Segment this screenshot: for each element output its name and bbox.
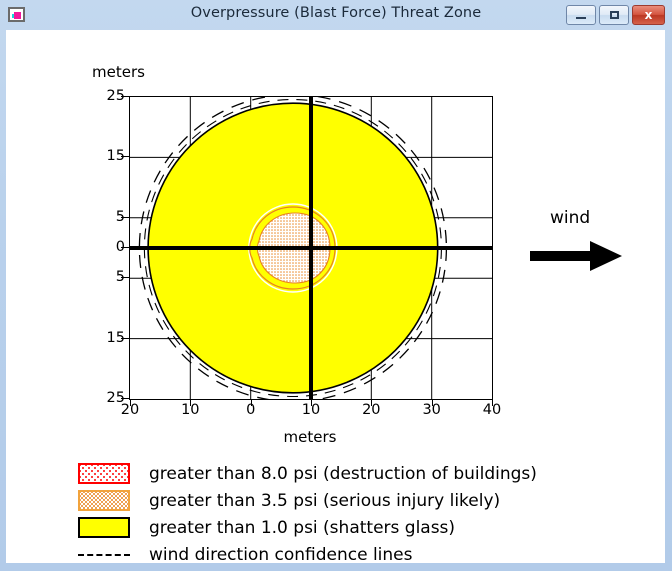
y-tick-label: 25 xyxy=(89,88,125,104)
x-axis-title: meters xyxy=(129,428,491,446)
y-tick-label: 15 xyxy=(89,330,125,346)
y-tick-mark xyxy=(121,156,129,157)
yellow-solid-swatch xyxy=(78,517,130,538)
y-tick-label: 5 xyxy=(89,209,125,225)
y-axis-title: meters xyxy=(92,63,145,81)
legend-item-3-5psi: greater than 3.5 psi (serious injury lik… xyxy=(78,487,638,514)
x-tick-mark xyxy=(492,399,493,406)
y-tick-label: 0 xyxy=(89,239,125,255)
x-tick-mark xyxy=(251,399,252,406)
title-bar[interactable]: Overpressure (Blast Force) Threat Zone x xyxy=(0,0,672,30)
red-dotted-swatch xyxy=(78,463,130,484)
application-window: Overpressure (Blast Force) Threat Zone x… xyxy=(0,0,672,571)
y-tick-mark xyxy=(121,398,129,399)
y-tick-label: 15 xyxy=(89,148,125,164)
x-tick-mark xyxy=(190,399,191,406)
x-tick-mark xyxy=(371,399,372,406)
y-tick-mark xyxy=(121,247,129,248)
legend-label: greater than 3.5 psi (serious injury lik… xyxy=(149,491,500,511)
y-axis-ticks: 25 15 5 0 5 15 25 xyxy=(85,96,125,398)
x-tick-mark xyxy=(311,399,312,406)
legend: greater than 8.0 psi (destruction of bui… xyxy=(78,460,638,568)
orange-dotted-swatch xyxy=(78,490,130,511)
arrow-right-icon xyxy=(528,238,628,274)
y-tick-mark xyxy=(121,96,129,97)
dashed-line-swatch xyxy=(78,544,130,565)
minimize-icon xyxy=(567,6,595,24)
plot-area xyxy=(129,96,493,400)
y-tick-mark xyxy=(121,338,129,339)
window-client-area: meters xyxy=(6,30,665,563)
legend-item-8psi: greater than 8.0 psi (destruction of bui… xyxy=(78,460,638,487)
x-tick-mark xyxy=(130,399,131,406)
wind-indicator: wind xyxy=(524,208,644,278)
threat-zone-svg xyxy=(130,97,492,399)
legend-label: wind direction confidence lines xyxy=(149,545,413,565)
x-tick-mark xyxy=(432,399,433,406)
legend-label: greater than 1.0 psi (shatters glass) xyxy=(149,518,455,538)
y-tick-mark xyxy=(121,277,129,278)
legend-label: greater than 8.0 psi (destruction of bui… xyxy=(149,464,537,484)
wind-label: wind xyxy=(550,208,590,228)
minimize-button[interactable] xyxy=(566,5,596,25)
legend-item-1psi: greater than 1.0 psi (shatters glass) xyxy=(78,514,638,541)
close-button[interactable]: x xyxy=(632,5,665,25)
close-icon: x xyxy=(633,6,664,24)
legend-item-confidence-lines: wind direction confidence lines xyxy=(78,541,638,568)
zero-axes xyxy=(130,97,492,399)
y-tick-label: 5 xyxy=(89,269,125,285)
maximize-icon xyxy=(600,6,628,24)
maximize-button[interactable] xyxy=(599,5,629,25)
y-tick-mark xyxy=(121,217,129,218)
